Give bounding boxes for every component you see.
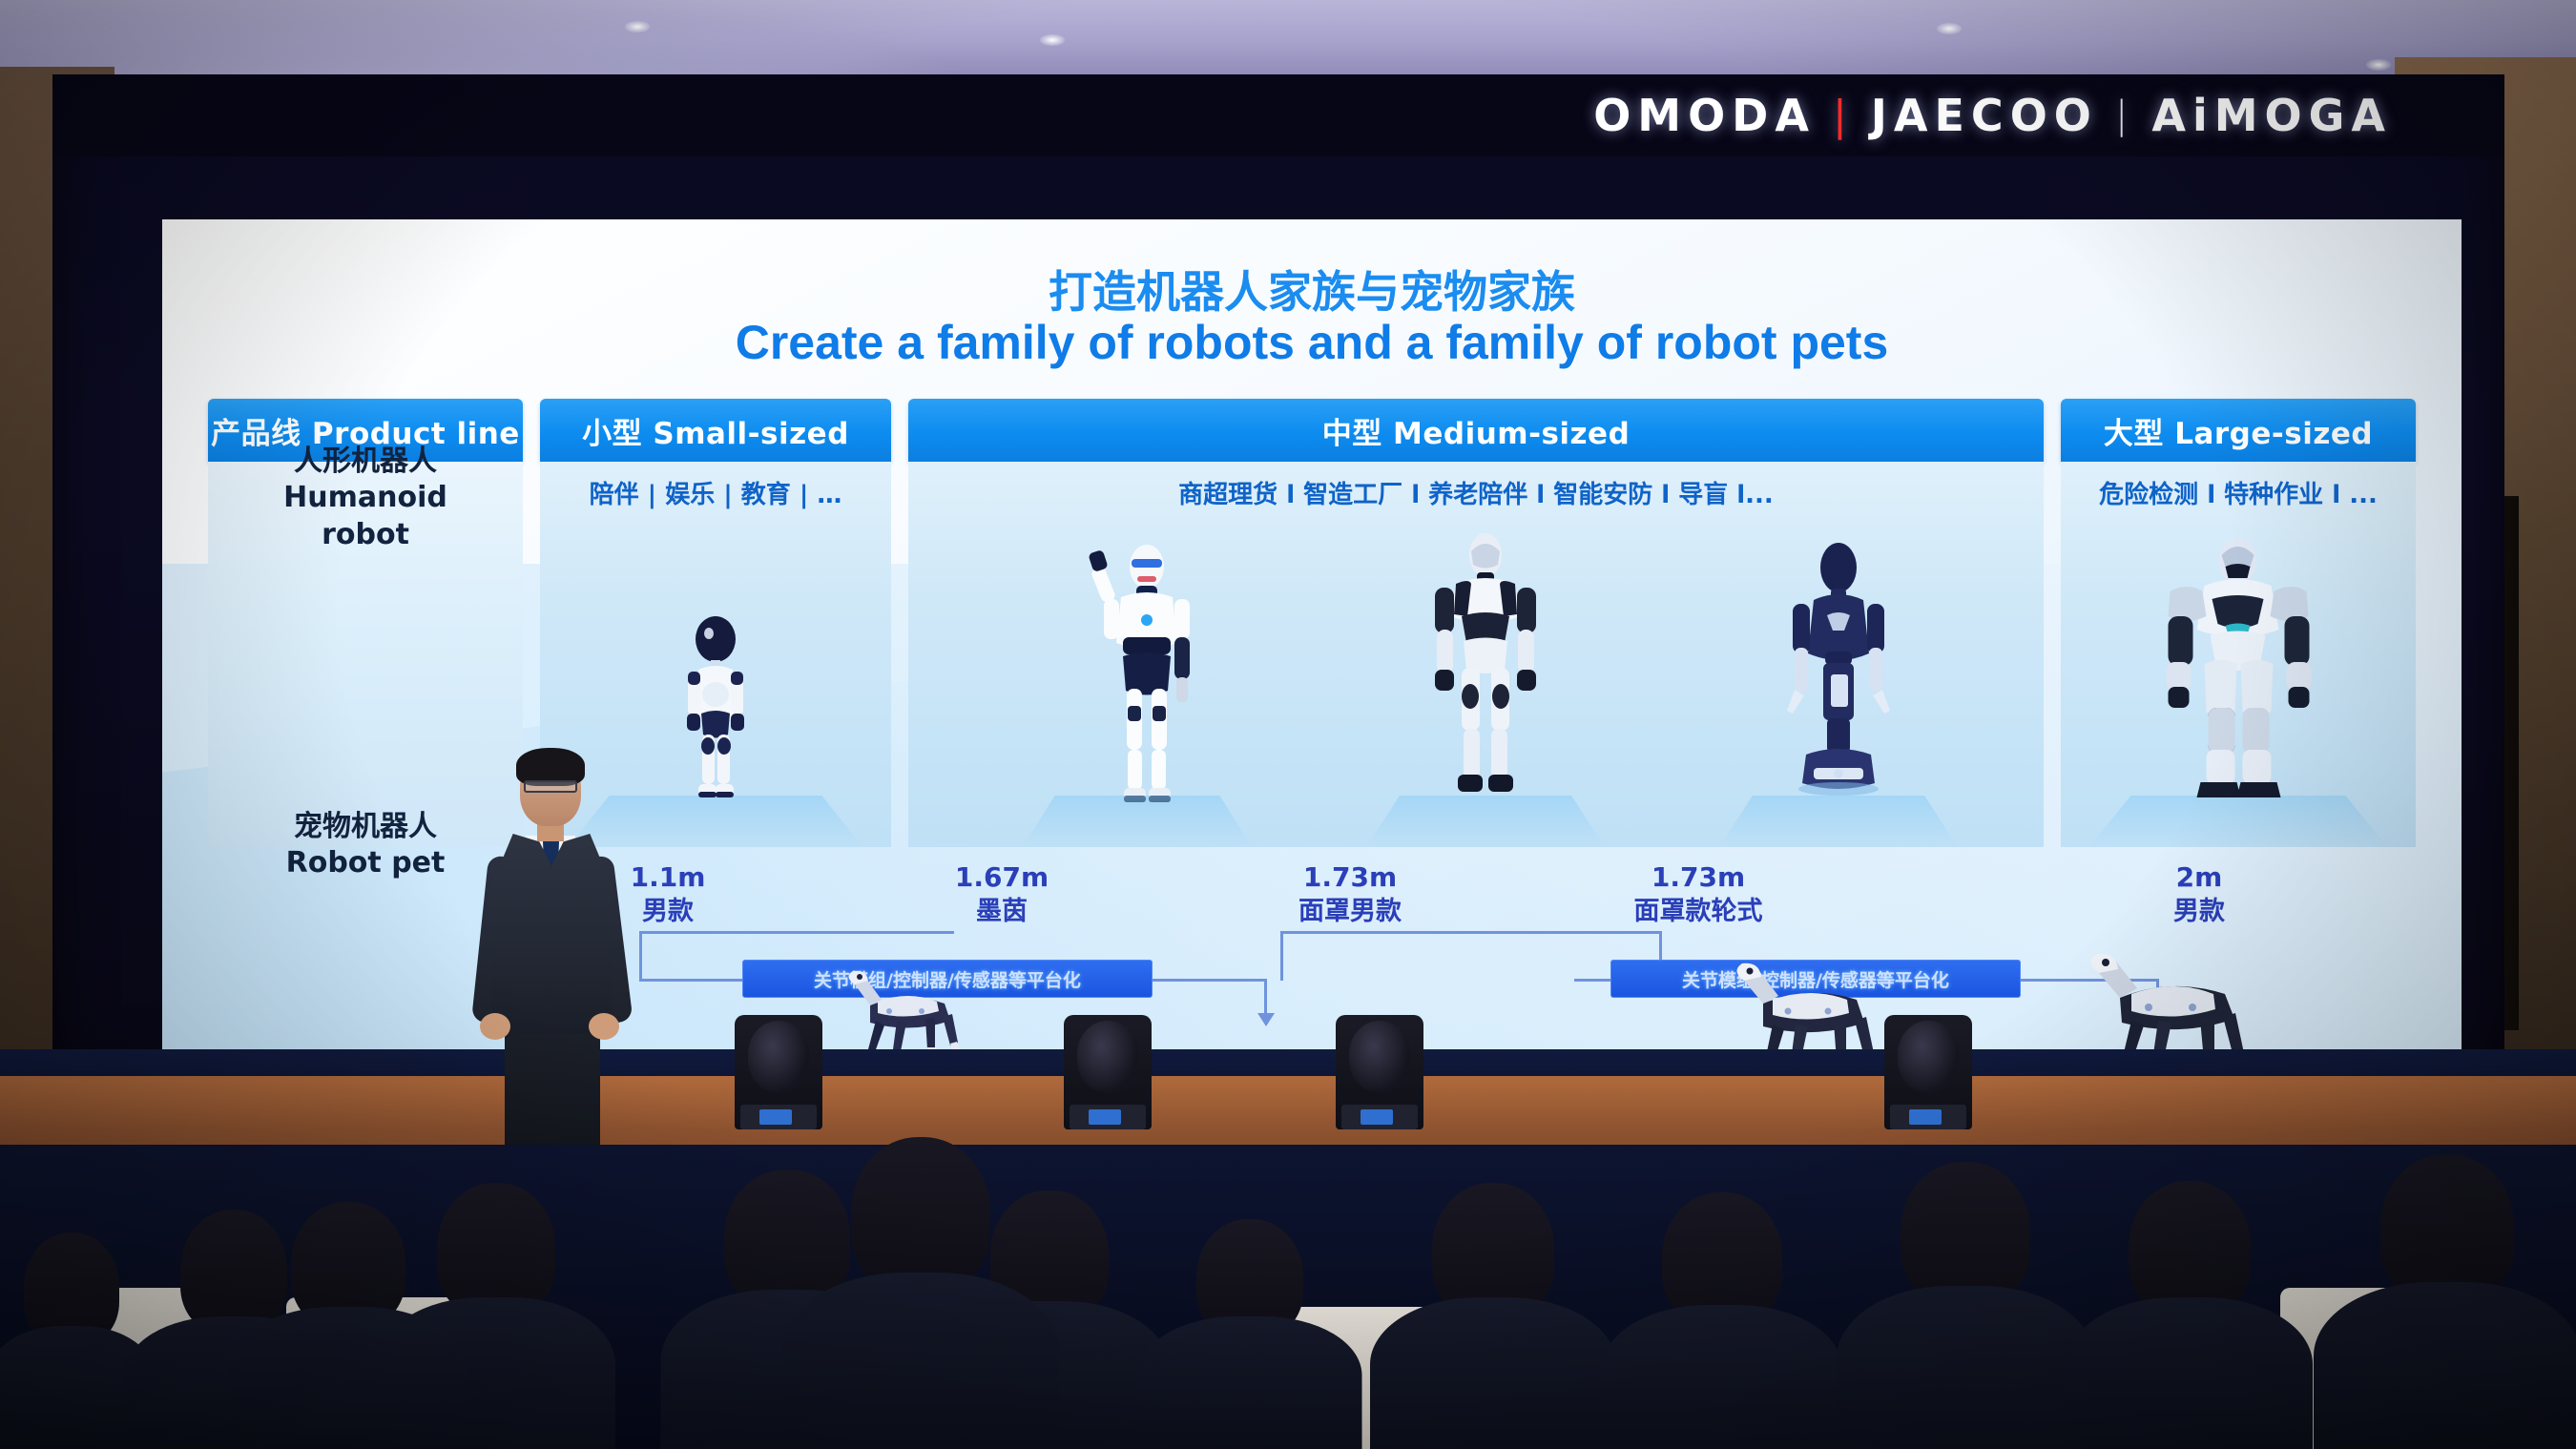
audience-member bbox=[2089, 1183, 2290, 1449]
robot-humanoid-medium-1-icon bbox=[1085, 538, 1209, 815]
audience-member bbox=[1622, 1197, 1822, 1449]
presenter-right-hand bbox=[589, 1013, 619, 1040]
caption-humanoid-5: 2m 男款 bbox=[2046, 860, 2352, 928]
column-header-small: 小型 Small-sized bbox=[540, 399, 891, 462]
connector-bracket-right bbox=[1280, 931, 1662, 934]
robot-humanoid-large bbox=[2155, 528, 2322, 815]
brand-jaecoo: JAECOO bbox=[1871, 90, 2098, 141]
robot-humanoid-wheeled-icon bbox=[1772, 533, 1905, 815]
led-video-wall: OMODA | JAECOO | AiMOGA 打造机器人家族与宠物家族 Cre… bbox=[52, 74, 2504, 1076]
slide-title-english: Create a family of robots and a family o… bbox=[162, 315, 2462, 370]
slide-title-chinese: 打造机器人家族与宠物家族 bbox=[162, 258, 2462, 321]
audience-member bbox=[229, 1211, 467, 1449]
light-head bbox=[748, 1021, 809, 1093]
connector-run-left bbox=[639, 979, 744, 982]
ceiling-spot-light bbox=[1040, 34, 1065, 46]
audience-shoulders bbox=[782, 1273, 1059, 1449]
brand-aimoga: AiMOGA bbox=[2151, 90, 2392, 141]
column-header-medium: 中型 Medium-sized bbox=[908, 399, 2044, 462]
robot-humanoid-large-icon bbox=[2155, 528, 2322, 815]
audience-shoulders bbox=[229, 1307, 467, 1449]
connector-arrowstem-left bbox=[1264, 979, 1267, 1017]
audience-shoulders bbox=[1837, 1286, 2094, 1449]
caption-height-3: 1.73m bbox=[1207, 860, 1493, 895]
audience-head bbox=[2380, 1154, 2514, 1303]
robot-humanoid-medium-2 bbox=[1414, 528, 1557, 815]
row-label-humanoid-en-2: robot bbox=[208, 517, 523, 553]
robot-humanoid-small-icon bbox=[673, 614, 758, 815]
row-label-robot-pet: 宠物机器人 Robot pet bbox=[208, 809, 523, 882]
row-label-pet-en: Robot pet bbox=[208, 845, 523, 881]
audience-member bbox=[1154, 1226, 1345, 1449]
audience-head bbox=[851, 1137, 990, 1292]
column-body-large: 危险检测 l 特种作业 l ... bbox=[2061, 462, 2416, 847]
caption-height-5: 2m bbox=[2046, 860, 2352, 895]
caption-name-4: 面罩款轮式 bbox=[1546, 895, 1851, 928]
caption-height-4: 1.73m bbox=[1546, 860, 1851, 895]
brand-separator: | bbox=[2115, 93, 2134, 137]
column-floor-medium-1 bbox=[1023, 796, 1252, 847]
column-floor-medium-2 bbox=[1366, 796, 1605, 847]
audience-shoulders bbox=[2314, 1282, 2576, 1449]
light-head bbox=[1898, 1021, 1959, 1093]
audience-head bbox=[1901, 1162, 2030, 1305]
brand-separator-red: | bbox=[1833, 92, 1854, 140]
column-sub-large: 危险检测 l 特种作业 l ... bbox=[2061, 462, 2416, 510]
brand-bar: OMODA | JAECOO | AiMOGA bbox=[52, 74, 2504, 156]
column-medium-sized: 中型 Medium-sized 商超理货 l 智造工厂 l 养老陪伴 l 智能安… bbox=[908, 399, 2044, 847]
ceiling-spot-light bbox=[1937, 23, 1962, 34]
robot-humanoid-medium-2-icon bbox=[1414, 528, 1557, 815]
brand-lockup: OMODA | JAECOO | AiMOGA bbox=[1593, 90, 2392, 141]
audience-shoulders bbox=[1370, 1297, 1616, 1449]
column-header-large: 大型 Large-sized bbox=[2061, 399, 2416, 462]
caption-humanoid-4: 1.73m 面罩款轮式 bbox=[1546, 860, 1851, 928]
connector-bracket-left bbox=[639, 931, 954, 934]
column-sub-medium: 商超理货 l 智造工厂 l 养老陪伴 l 智能安防 l 导盲 l... bbox=[908, 462, 2044, 510]
robot-humanoid-small bbox=[673, 614, 758, 815]
audience-member bbox=[1393, 1183, 1593, 1449]
audience bbox=[0, 1087, 2576, 1449]
audience-member bbox=[1860, 1164, 2070, 1449]
light-head bbox=[1077, 1021, 1138, 1093]
connector-arrowhead-left bbox=[1257, 1013, 1275, 1026]
row-label-humanoid-cn: 人形机器人 bbox=[208, 444, 523, 480]
caption-name-5: 男款 bbox=[2046, 895, 2352, 928]
audience-shoulders bbox=[1602, 1305, 1842, 1449]
caption-name-3: 面罩男款 bbox=[1207, 895, 1493, 928]
caption-height-2: 1.67m bbox=[859, 860, 1145, 895]
row-label-humanoid-en-1: Humanoid bbox=[208, 480, 523, 516]
connector-drop-right-a bbox=[1280, 931, 1283, 981]
audience-member bbox=[2337, 1164, 2557, 1449]
audience-head bbox=[2129, 1181, 2251, 1316]
connector-drop-left bbox=[639, 931, 642, 981]
audience-member bbox=[811, 1135, 1030, 1449]
presenter-left-hand bbox=[480, 1013, 510, 1040]
robot-humanoid-medium-1 bbox=[1085, 538, 1209, 815]
caption-humanoid-2: 1.67m 墨茵 bbox=[859, 860, 1145, 928]
ceiling-spot-light bbox=[2366, 59, 2391, 71]
row-label-humanoid: 人形机器人 Humanoid robot bbox=[208, 444, 523, 553]
presenter-glasses bbox=[524, 780, 577, 793]
brand-omoda: OMODA bbox=[1593, 90, 1816, 141]
audience-member bbox=[0, 1231, 143, 1449]
connector-out-left bbox=[1153, 979, 1267, 982]
conference-photo: OMODA | JAECOO | AiMOGA 打造机器人家族与宠物家族 Cre… bbox=[0, 0, 2576, 1449]
audience-shoulders bbox=[2067, 1297, 2313, 1449]
caption-humanoid-3: 1.73m 面罩男款 bbox=[1207, 860, 1493, 928]
column-body-medium: 商超理货 l 智造工厂 l 养老陪伴 l 智能安防 l 导盲 l... bbox=[908, 462, 2044, 847]
light-head bbox=[1349, 1021, 1410, 1093]
audience-shoulders bbox=[1138, 1316, 1362, 1449]
column-large-sized: 大型 Large-sized 危险检测 l 特种作业 l ... bbox=[2061, 399, 2416, 847]
row-label-pet-cn: 宠物机器人 bbox=[208, 809, 523, 845]
column-floor-medium-3 bbox=[1719, 796, 1958, 847]
robot-humanoid-medium-3-wheeled bbox=[1772, 533, 1905, 815]
column-sub-small: 陪伴 | 娱乐 | 教育 | … bbox=[540, 462, 891, 510]
caption-name-2: 墨茵 bbox=[859, 895, 1145, 928]
ceiling-spot-light bbox=[625, 21, 650, 32]
